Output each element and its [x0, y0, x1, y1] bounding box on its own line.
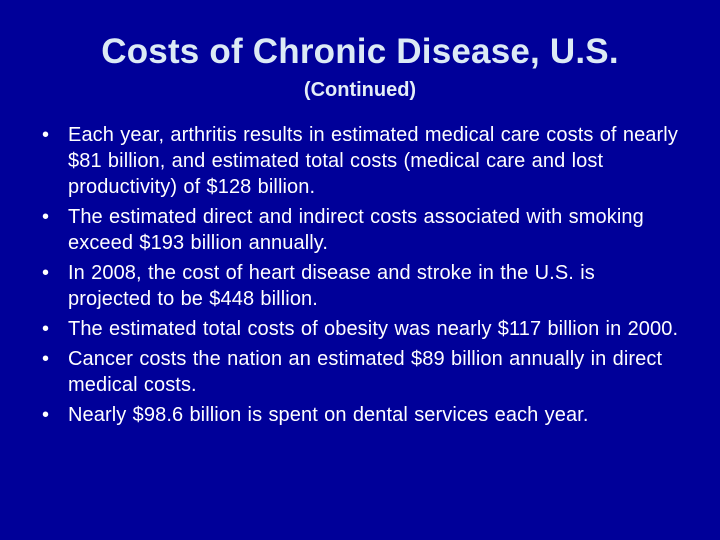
bullet-dot-icon: •	[38, 316, 68, 342]
slide-title-block: Costs of Chronic Disease, U.S. (Continue…	[0, 32, 720, 102]
list-item: • The estimated total costs of obesity w…	[38, 316, 684, 342]
slide-subtitle: (Continued)	[0, 78, 720, 102]
list-item-text: Cancer costs the nation an estimated $89…	[68, 346, 684, 398]
list-item: • In 2008, the cost of heart disease and…	[38, 260, 684, 312]
list-item: • Nearly $98.6 billion is spent on denta…	[38, 402, 684, 428]
list-item: • Each year, arthritis results in estima…	[38, 122, 684, 200]
list-item: • The estimated direct and indirect cost…	[38, 204, 684, 256]
bullet-list: • Each year, arthritis results in estima…	[38, 122, 684, 432]
list-item: • Cancer costs the nation an estimated $…	[38, 346, 684, 398]
list-item-text: Each year, arthritis results in estimate…	[68, 122, 684, 200]
bullet-dot-icon: •	[38, 402, 68, 428]
list-item-text: In 2008, the cost of heart disease and s…	[68, 260, 684, 312]
bullet-dot-icon: •	[38, 204, 68, 230]
bullet-dot-icon: •	[38, 122, 68, 148]
list-item-text: The estimated total costs of obesity was…	[68, 316, 684, 342]
list-item-text: The estimated direct and indirect costs …	[68, 204, 684, 256]
bullet-dot-icon: •	[38, 260, 68, 286]
list-item-text: Nearly $98.6 billion is spent on dental …	[68, 402, 684, 428]
page-title: Costs of Chronic Disease, U.S.	[0, 32, 720, 72]
bullet-dot-icon: •	[38, 346, 68, 372]
presentation-slide: Costs of Chronic Disease, U.S. (Continue…	[0, 0, 720, 540]
